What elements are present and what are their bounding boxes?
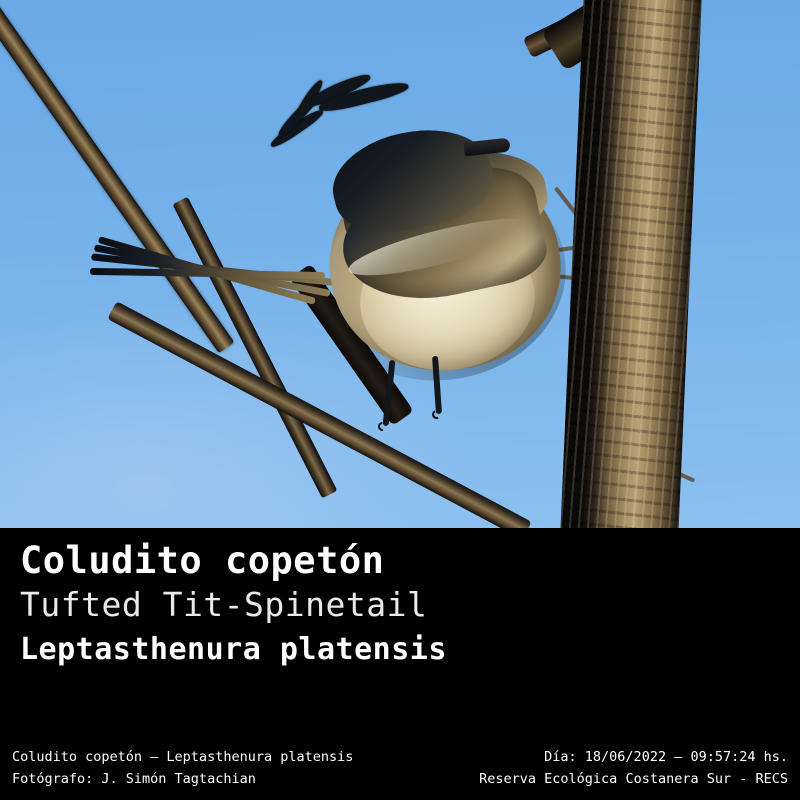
- caption-text-block: Coludito copetón Tufted Tit-Spinetail Le…: [20, 538, 447, 670]
- bird-photograph: [0, 0, 800, 528]
- caption-band: Coludito copetón Tufted Tit-Spinetail Le…: [0, 528, 800, 734]
- footer-photographer-line: Fotógrafo: J. Simón Tagtachian: [12, 768, 353, 790]
- bark-texture: [560, 0, 702, 528]
- footer-location-line: Reserva Ecológica Costanera Sur - RECS: [479, 768, 788, 790]
- footer-species-line: Coludito copetón — Leptasthenura platens…: [12, 746, 353, 768]
- photo-card: Coludito copetón Tufted Tit-Spinetail Le…: [0, 0, 800, 800]
- tree-trunk: [560, 0, 702, 528]
- scientific-name-label: Leptasthenura platensis: [20, 630, 447, 670]
- footer-datetime-line: Día: 18/06/2022 — 09:57:24 hs.: [479, 746, 788, 768]
- footer-left-column: Coludito copetón — Leptasthenura platens…: [12, 746, 353, 790]
- bird-subject: [250, 80, 580, 410]
- english-name-label: Tufted Tit-Spinetail: [20, 584, 447, 626]
- footer-right-column: Día: 18/06/2022 — 09:57:24 hs. Reserva E…: [479, 746, 788, 790]
- bird-tail: [90, 250, 350, 320]
- footer-bar: Coludito copetón — Leptasthenura platens…: [0, 734, 800, 800]
- common-name-label: Coludito copetón: [20, 538, 447, 584]
